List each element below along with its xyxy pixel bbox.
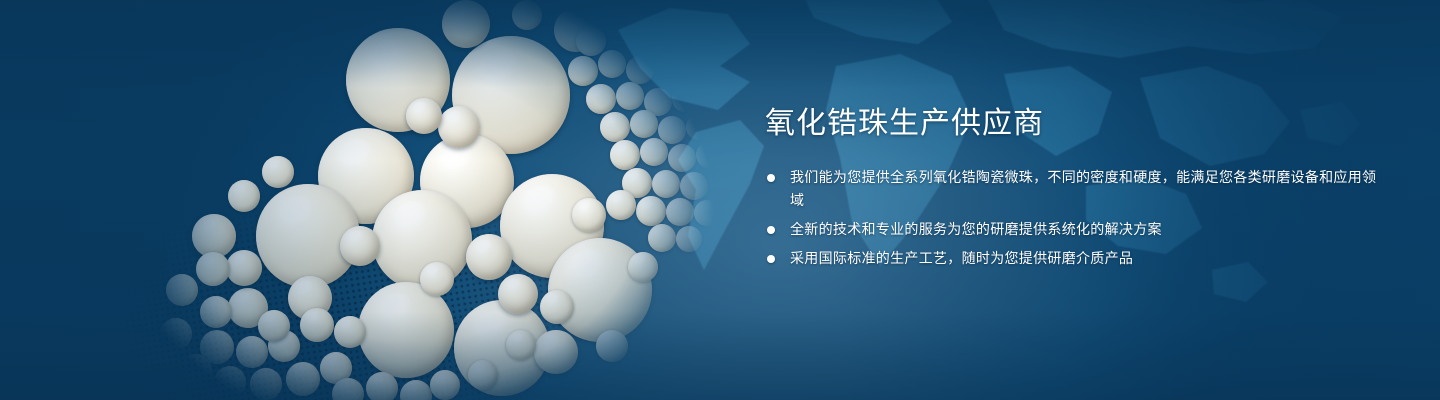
- list-item-label: 采用国际标准的生产工艺，随时为您提供研磨介质产品: [790, 250, 1133, 266]
- bullet-dot-icon: [767, 226, 775, 234]
- list-item: 全新的技术和专业的服务为您的研磨提供系统化的解决方案: [765, 218, 1385, 241]
- bullet-dot-icon: [767, 174, 775, 182]
- bullet-dot-icon: [767, 255, 775, 263]
- page-title: 氧化锆珠生产供应商: [765, 104, 1385, 144]
- feature-list: 我们能为您提供全系列氧化锆陶瓷微珠，不同的密度和硬度，能满足您各类研磨设备和应用…: [765, 166, 1385, 270]
- promo-banner: 氧化锆珠生产供应商 我们能为您提供全系列氧化锆陶瓷微珠，不同的密度和硬度，能满足…: [0, 0, 1440, 400]
- list-item-label: 全新的技术和专业的服务为您的研磨提供系统化的解决方案: [790, 221, 1162, 237]
- list-item-label: 我们能为您提供全系列氧化锆陶瓷微珠，不同的密度和硬度，能满足您各类研磨设备和应用…: [790, 169, 1376, 208]
- list-item: 采用国际标准的生产工艺，随时为您提供研磨介质产品: [765, 247, 1385, 270]
- banner-copy: 氧化锆珠生产供应商 我们能为您提供全系列氧化锆陶瓷微珠，不同的密度和硬度，能满足…: [765, 104, 1385, 276]
- list-item: 我们能为您提供全系列氧化锆陶瓷微珠，不同的密度和硬度，能满足您各类研磨设备和应用…: [765, 166, 1385, 212]
